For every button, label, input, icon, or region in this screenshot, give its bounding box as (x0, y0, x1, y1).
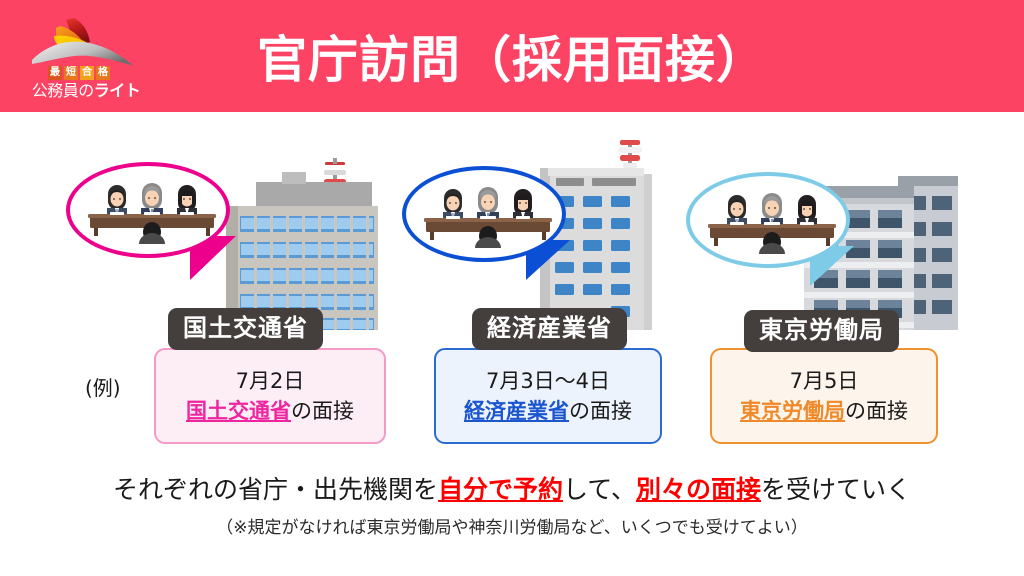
slide-root: 最 短 合 格 公務員のライト 官庁訪問（採用面接） (0, 0, 1024, 576)
ministry-group-2: 東京労働局 (672, 142, 1002, 362)
summary-part-2: して、 (563, 475, 636, 504)
speech-bubble-2 (686, 172, 850, 268)
schedule-card-suffix-1: の面接 (569, 399, 632, 423)
speech-bubble-1 (402, 166, 566, 262)
org-label-1: 経済産業省 (472, 308, 627, 350)
slide-header: 最 短 合 格 公務員のライト 官庁訪問（採用面接） (0, 0, 1024, 112)
schedule-card-org-1: 経済産業省 (464, 399, 569, 423)
schedule-card-suffix-0: の面接 (291, 399, 354, 423)
schedule-card-detail-1: 経済産業省の面接 (464, 396, 632, 426)
page-title: 官庁訪問（採用面接） (0, 0, 1024, 112)
org-label-2: 東京労働局 (744, 310, 899, 352)
ministry-group-1: 経済産業省 (390, 130, 720, 350)
summary-part-3: を受けていく (761, 475, 911, 504)
org-label-0: 国土交通省 (168, 308, 323, 350)
summary-text: それぞれの省庁・出先機関を自分で予約して、別々の面接を受けていく (0, 474, 1024, 506)
schedule-card-date-0: 7月2日 (236, 366, 305, 396)
interview-panel-illustration-2 (702, 188, 842, 260)
schedule-card-org-2: 東京労働局 (740, 399, 845, 423)
schedule-card-detail-2: 東京労働局の面接 (740, 396, 908, 426)
interview-panel-illustration-1 (418, 182, 558, 254)
schedule-card-0: 7月2日 国土交通省の面接 (154, 348, 386, 444)
speech-bubble-0 (66, 162, 230, 258)
footnote-text: （※規定がなければ東京労働局や神奈川労働局など、いくつでも受けてよい） (0, 516, 1024, 540)
summary-highlight-2: 別々の面接 (636, 475, 761, 504)
interview-panel-illustration-0 (82, 178, 222, 250)
schedule-card-detail-0: 国土交通省の面接 (186, 396, 354, 426)
schedule-card-1: 7月3日〜4日 経済産業省の面接 (434, 348, 662, 444)
summary-highlight-1: 自分で予約 (438, 475, 563, 504)
schedule-card-2: 7月5日 東京労働局の面接 (710, 348, 938, 444)
schedule-card-org-0: 国土交通省 (186, 399, 291, 423)
example-note-label: (例) (85, 372, 121, 401)
schedule-card-suffix-2: の面接 (845, 399, 908, 423)
schedule-card-date-1: 7月3日〜4日 (486, 366, 610, 396)
summary-part-1: それぞれの省庁・出先機関を (113, 475, 438, 504)
schedule-card-date-2: 7月5日 (790, 366, 859, 396)
ministry-group-0: 国土交通省 (48, 140, 378, 360)
ministry-groups: 国土交通省 (0, 112, 1024, 332)
